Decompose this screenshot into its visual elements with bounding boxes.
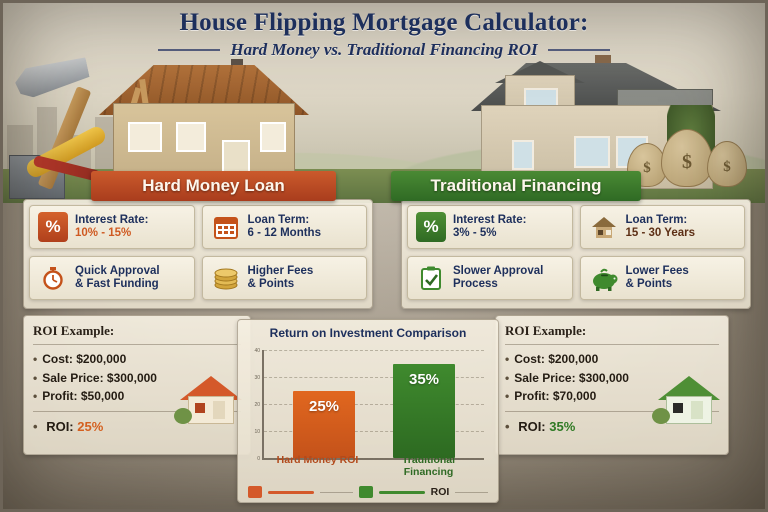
divider xyxy=(505,344,719,345)
bar-hard-money[interactable]: 25% xyxy=(293,391,355,459)
divider xyxy=(33,344,241,345)
hard-money-banner: Hard Money Loan xyxy=(91,171,336,201)
chart-title: Return on Investment Comparison xyxy=(238,320,498,340)
feature-loan-term-hard[interactable]: Loan Term: 6 - 12 Months xyxy=(202,205,368,249)
chart-plot-area: 40 30 20 10 0 25% 35% xyxy=(262,350,484,460)
feature-quick-approval[interactable]: Quick Approval & Fast Funding xyxy=(29,256,195,300)
hard-money-roi-panel: ROI Example: Cost: $200,000 Sale Price: … xyxy=(23,315,251,455)
title-rule-left xyxy=(158,49,220,51)
list-item: Cost: $200,000 xyxy=(33,350,241,369)
money-bag-icon: $ xyxy=(707,141,747,187)
x-label-traditional: Traditional Financing xyxy=(383,454,475,478)
feature-slower-approval[interactable]: Slower Approval Process xyxy=(407,256,573,300)
y-tick-label: 20 xyxy=(254,402,260,408)
roi-final-value: 35% xyxy=(549,419,575,434)
y-tick-label: 0 xyxy=(257,456,260,462)
feature-value: 10% - 15% xyxy=(75,227,149,240)
roi-comparison-chart: Return on Investment Comparison 40 30 20… xyxy=(237,319,499,503)
hard-money-banner-label: Hard Money Loan xyxy=(142,176,285,196)
house-icon xyxy=(589,212,619,242)
roi-final-label: ROI: xyxy=(518,419,545,434)
feature-label: Interest Rate: xyxy=(453,214,527,227)
feature-label: Quick Approval xyxy=(75,265,160,278)
feature-value: & Points xyxy=(626,278,689,291)
feature-label: Interest Rate: xyxy=(75,214,149,227)
feature-value: 6 - 12 Months xyxy=(248,227,321,240)
feature-label: Slower Approval xyxy=(453,265,543,278)
legend-swatch-hard-money xyxy=(248,486,262,498)
feature-interest-rate-traditional[interactable]: % Interest Rate: 3% - 5% xyxy=(407,205,573,249)
chart-bars: 25% 35% xyxy=(264,350,484,458)
clipboard-check-icon xyxy=(416,263,446,293)
stopwatch-icon xyxy=(38,263,68,293)
page-subtitle: Hard Money vs. Traditional Financing ROI xyxy=(230,40,537,60)
bar-value-label: 35% xyxy=(393,371,455,388)
bar-traditional[interactable]: 35% xyxy=(393,364,455,459)
mini-house-icon-orange xyxy=(180,376,242,424)
title-block: House Flipping Mortgage Calculator: Hard… xyxy=(3,9,765,60)
bar-value-label: 25% xyxy=(293,398,355,415)
x-label-hard-money: Hard Money ROI xyxy=(272,454,364,478)
roi-heading: ROI Example: xyxy=(505,323,719,339)
roi-final-value: 25% xyxy=(77,419,103,434)
feature-value: 15 - 30 Years xyxy=(626,227,696,240)
feature-label: Loan Term: xyxy=(626,214,696,227)
feature-label: Higher Fees xyxy=(248,265,314,278)
feature-lower-fees[interactable]: Lower Fees & Points xyxy=(580,256,746,300)
feature-value: & Fast Funding xyxy=(75,278,160,291)
feature-label: Loan Term: xyxy=(248,214,321,227)
legend-line-traditional xyxy=(379,491,425,494)
traditional-banner-label: Traditional Financing xyxy=(431,176,602,196)
y-tick-label: 10 xyxy=(254,429,260,435)
roi-heading: ROI Example: xyxy=(33,323,241,339)
calendar-icon xyxy=(211,212,241,242)
chart-x-labels: Hard Money ROI Traditional Financing xyxy=(262,454,484,478)
money-bag-icon: $ xyxy=(661,129,713,187)
coins-icon xyxy=(211,263,241,293)
feature-interest-rate-hard[interactable]: % Interest Rate: 10% - 15% xyxy=(29,205,195,249)
y-tick-label: 40 xyxy=(254,348,260,354)
feature-higher-fees[interactable]: Higher Fees & Points xyxy=(202,256,368,300)
feature-value: 3% - 5% xyxy=(453,227,527,240)
legend-line-hard-money xyxy=(268,491,314,494)
feature-label: Lower Fees xyxy=(626,265,689,278)
page-title: House Flipping Mortgage Calculator: xyxy=(3,9,765,37)
hard-money-feature-grid: % Interest Rate: 10% - 15% Lo xyxy=(29,205,367,300)
traditional-feature-grid: % Interest Rate: 3% - 5% Loan Term: 15 -… xyxy=(407,205,745,300)
percent-icon: % xyxy=(416,212,446,242)
chart-legend: ROI xyxy=(248,486,488,498)
y-tick-label: 30 xyxy=(254,375,260,381)
money-bags-illustration: $ $ $ xyxy=(627,121,747,187)
traditional-banner: Traditional Financing xyxy=(391,171,641,201)
legend-label-roi: ROI xyxy=(431,486,450,498)
list-item: Cost: $200,000 xyxy=(505,350,719,369)
mini-house-icon-green xyxy=(658,376,720,424)
title-rule-right xyxy=(548,49,610,51)
infographic-poster: $ $ $ House Flipping Mortgage Calculator… xyxy=(0,0,768,512)
traditional-roi-panel: ROI Example: Cost: $200,000 Sale Price: … xyxy=(495,315,729,455)
roi-final-label: ROI: xyxy=(46,419,73,434)
feature-value: & Points xyxy=(248,278,314,291)
percent-icon: % xyxy=(38,212,68,242)
piggy-bank-icon xyxy=(589,263,619,293)
legend-swatch-traditional xyxy=(359,486,373,498)
feature-loan-term-traditional[interactable]: Loan Term: 15 - 30 Years xyxy=(580,205,746,249)
feature-value: Process xyxy=(453,278,543,291)
